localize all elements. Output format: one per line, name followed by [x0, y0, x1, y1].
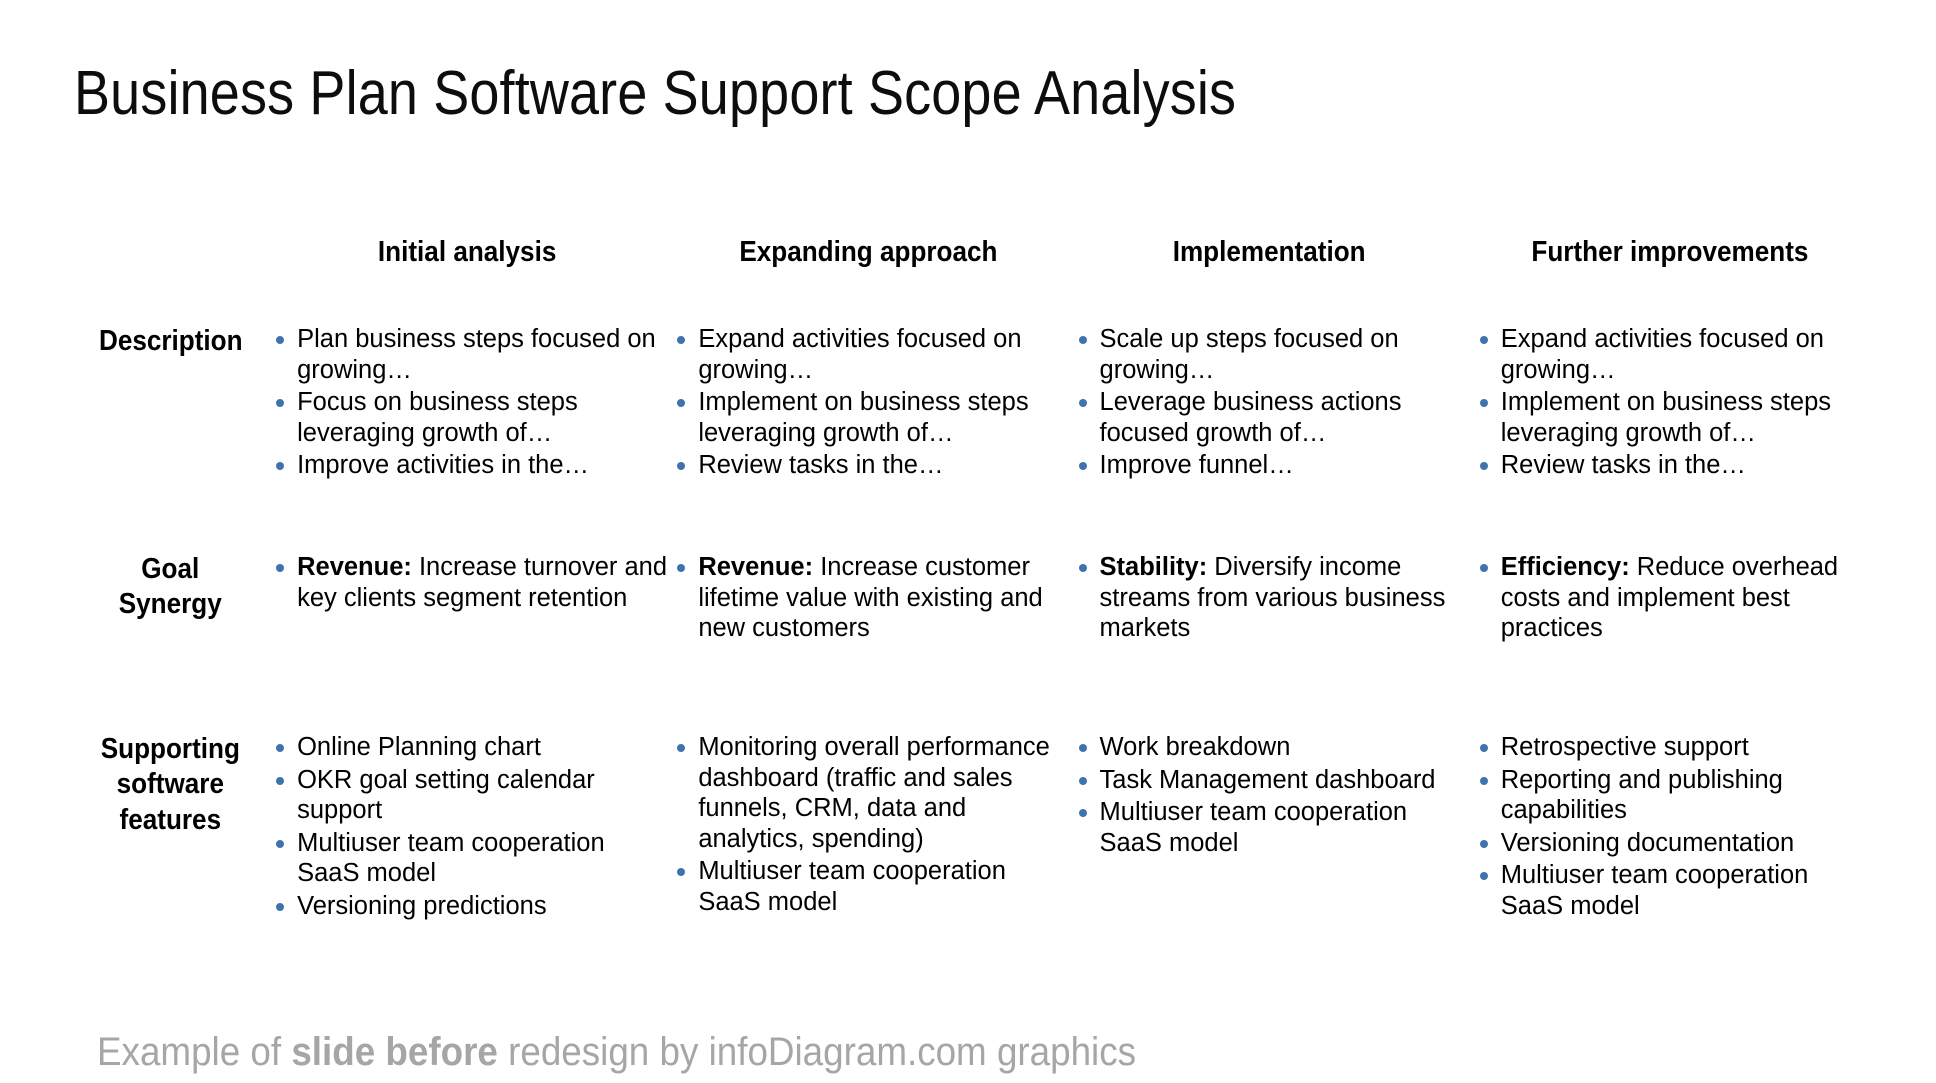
bullet-item: Monitoring overall performance dashboard…	[667, 732, 1068, 854]
row-label-text: GoalSynergy	[119, 552, 222, 623]
column-header-further-improvements: Further improvements	[1470, 236, 1871, 324]
bullet-item: Expand activities focused on growing…	[667, 324, 1068, 385]
row-label-supporting-software-features: Supportingsoftwarefeatures	[75, 732, 266, 954]
bullet-item: Multiuser team cooperation SaaS model	[1069, 797, 1470, 858]
bullet-item: Revenue: Increase turnover and key clien…	[266, 552, 667, 613]
cell-supporting-implementation: Work breakdownTask Management dashboardM…	[1069, 732, 1470, 954]
row-label-description: Description	[75, 324, 266, 552]
bullet-item: Versioning predictions	[266, 891, 667, 922]
cell-goal-synergy-further-improvements: Efficiency: Reduce overhead costs and im…	[1470, 552, 1871, 732]
bullet-list: Revenue: Increase turnover and key clien…	[266, 552, 667, 613]
scope-analysis-table: Initial analysis Expanding approach Impl…	[75, 236, 1871, 954]
bullet-item: Scale up steps focused on growing…	[1069, 324, 1470, 385]
column-header-initial-analysis: Initial analysis	[266, 236, 667, 324]
bullet-item: Focus on business steps leveraging growt…	[266, 387, 667, 448]
bullet-item: Reporting and publishing capabilities	[1470, 765, 1871, 826]
column-header-expanding-approach: Expanding approach	[667, 236, 1068, 324]
bullet-list: Online Planning chartOKR goal setting ca…	[266, 732, 667, 922]
column-header-label: Initial analysis	[377, 236, 555, 269]
column-header-label: Further improvements	[1532, 236, 1809, 269]
footer-part-1: Example of	[97, 1030, 291, 1074]
table-header: Initial analysis Expanding approach Impl…	[75, 236, 1871, 324]
cell-goal-synergy-implementation: Stability: Diversify income streams from…	[1069, 552, 1470, 732]
header-corner-cell	[75, 236, 266, 324]
bullet-lead: Revenue:	[297, 553, 412, 581]
bullet-item: Implement on business steps leveraging g…	[667, 387, 1068, 448]
bullet-list: Expand activities focused on growing…Imp…	[667, 324, 1068, 481]
bullet-item: Work breakdown	[1069, 732, 1470, 763]
bullet-item: Efficiency: Reduce overhead costs and im…	[1470, 552, 1871, 644]
footer-part-2: redesign by infoDiagram.com graphics	[498, 1030, 1136, 1074]
bullet-item: Revenue: Increase customer lifetime valu…	[667, 552, 1068, 644]
bullet-item: Improve activities in the…	[266, 450, 667, 481]
bullet-item: Review tasks in the…	[667, 450, 1068, 481]
bullet-item: Multiuser team cooperation SaaS model	[667, 856, 1068, 917]
bullet-item: OKR goal setting calendar support	[266, 765, 667, 826]
table-row-goal-synergy: GoalSynergy Revenue: Increase turnover a…	[75, 552, 1871, 732]
bullet-lead: Efficiency:	[1501, 553, 1630, 581]
bullet-item: Multiuser team cooperation SaaS model	[266, 828, 667, 889]
column-header-implementation: Implementation	[1069, 236, 1470, 324]
bullet-item: Leverage business actions focused growth…	[1069, 387, 1470, 448]
row-label-text: Supportingsoftwarefeatures	[101, 732, 240, 838]
bullet-list: Monitoring overall performance dashboard…	[667, 732, 1068, 918]
column-header-label: Implementation	[1173, 236, 1366, 269]
bullet-list: Retrospective supportReporting and publi…	[1470, 732, 1871, 922]
bullet-list: Revenue: Increase customer lifetime valu…	[667, 552, 1068, 644]
cell-description-expanding-approach: Expand activities focused on growing…Imp…	[667, 324, 1068, 552]
bullet-list: Work breakdownTask Management dashboardM…	[1069, 732, 1470, 858]
bullet-list: Expand activities focused on growing…Imp…	[1470, 324, 1871, 481]
table-body: Description Plan business steps focused …	[75, 324, 1871, 954]
cell-supporting-initial-analysis: Online Planning chartOKR goal setting ca…	[266, 732, 667, 954]
bullet-list: Stability: Diversify income streams from…	[1069, 552, 1470, 644]
cell-supporting-expanding-approach: Monitoring overall performance dashboard…	[667, 732, 1068, 954]
cell-goal-synergy-expanding-approach: Revenue: Increase customer lifetime valu…	[667, 552, 1068, 732]
bullet-item: Stability: Diversify income streams from…	[1069, 552, 1470, 644]
footer-note: Example of slide before redesign by info…	[97, 1030, 1136, 1075]
bullet-item: Multiuser team cooperation SaaS model	[1470, 860, 1871, 921]
page-title: Business Plan Software Support Scope Ana…	[74, 58, 1236, 129]
bullet-item: Implement on business steps leveraging g…	[1470, 387, 1871, 448]
header-row: Initial analysis Expanding approach Impl…	[75, 236, 1871, 324]
table-row-supporting-software-features: Supportingsoftwarefeatures Online Planni…	[75, 732, 1871, 954]
column-header-label: Expanding approach	[739, 236, 997, 269]
bullet-list: Scale up steps focused on growing…Levera…	[1069, 324, 1470, 481]
cell-goal-synergy-initial-analysis: Revenue: Increase turnover and key clien…	[266, 552, 667, 732]
bullet-item: Plan business steps focused on growing…	[266, 324, 667, 385]
bullet-item: Retrospective support	[1470, 732, 1871, 763]
bullet-item: Task Management dashboard	[1069, 765, 1470, 796]
bullet-item: Review tasks in the…	[1470, 450, 1871, 481]
bullet-list: Efficiency: Reduce overhead costs and im…	[1470, 552, 1871, 644]
cell-description-further-improvements: Expand activities focused on growing…Imp…	[1470, 324, 1871, 552]
bullet-item: Improve funnel…	[1069, 450, 1470, 481]
bullet-item: Expand activities focused on growing…	[1470, 324, 1871, 385]
footer-emphasis: slide before	[291, 1030, 498, 1074]
bullet-list: Plan business steps focused on growing…F…	[266, 324, 667, 481]
bullet-lead: Revenue:	[698, 553, 813, 581]
cell-description-initial-analysis: Plan business steps focused on growing…F…	[266, 324, 667, 552]
bullet-lead: Stability:	[1100, 553, 1208, 581]
table-row-description: Description Plan business steps focused …	[75, 324, 1871, 552]
bullet-item: Online Planning chart	[266, 732, 667, 763]
cell-supporting-further-improvements: Retrospective supportReporting and publi…	[1470, 732, 1871, 954]
bullet-item: Versioning documentation	[1470, 828, 1871, 859]
row-label-text: Description	[99, 324, 243, 359]
cell-description-implementation: Scale up steps focused on growing…Levera…	[1069, 324, 1470, 552]
row-label-goal-synergy: GoalSynergy	[75, 552, 266, 732]
